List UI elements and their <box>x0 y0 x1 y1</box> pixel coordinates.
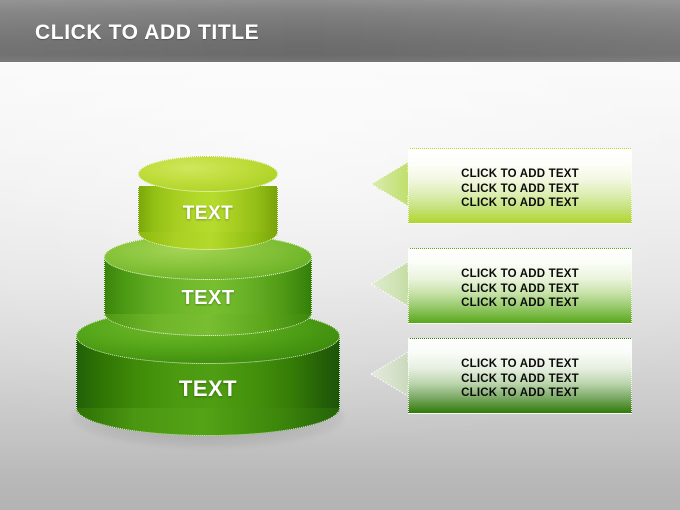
callout-2-line-2: CLICK TO ADD TEXT <box>408 282 632 297</box>
cake-layer-top-label[interactable]: TEXT <box>138 203 278 225</box>
callout-2-line-1: CLICK TO ADD TEXT <box>408 267 632 282</box>
callout-1-text[interactable]: CLICK TO ADD TEXT CLICK TO ADD TEXT CLIC… <box>408 167 632 211</box>
layered-cylinder-diagram: TEXT TEXT TEXT <box>0 0 400 510</box>
callout-3-line-2: CLICK TO ADD TEXT <box>408 372 632 387</box>
callout-1-line-2: CLICK TO ADD TEXT <box>408 182 632 197</box>
callout-box-3[interactable]: CLICK TO ADD TEXT CLICK TO ADD TEXT CLIC… <box>370 338 632 414</box>
callout-box-2[interactable]: CLICK TO ADD TEXT CLICK TO ADD TEXT CLIC… <box>370 248 632 324</box>
callout-2-text[interactable]: CLICK TO ADD TEXT CLICK TO ADD TEXT CLIC… <box>408 267 632 311</box>
callout-1-line-1: CLICK TO ADD TEXT <box>408 167 632 182</box>
callout-1-line-3: CLICK TO ADD TEXT <box>408 196 632 211</box>
callout-box-1[interactable]: CLICK TO ADD TEXT CLICK TO ADD TEXT CLIC… <box>370 148 632 224</box>
callout-3-text[interactable]: CLICK TO ADD TEXT CLICK TO ADD TEXT CLIC… <box>408 357 632 401</box>
slide-canvas: CLICK TO ADD TITLE TEXT TEXT TEXT <box>0 0 680 510</box>
callout-2-line-3: CLICK TO ADD TEXT <box>408 296 632 311</box>
cake-layer-bottom-label[interactable]: TEXT <box>76 376 340 402</box>
cake-layer-middle-label[interactable]: TEXT <box>104 287 312 310</box>
callout-3-line-1: CLICK TO ADD TEXT <box>408 357 632 372</box>
cake-layer-top-top-face <box>138 156 278 192</box>
callout-3-line-3: CLICK TO ADD TEXT <box>408 386 632 401</box>
title-bar: CLICK TO ADD TITLE <box>0 0 680 62</box>
page-title[interactable]: CLICK TO ADD TITLE <box>35 22 259 44</box>
